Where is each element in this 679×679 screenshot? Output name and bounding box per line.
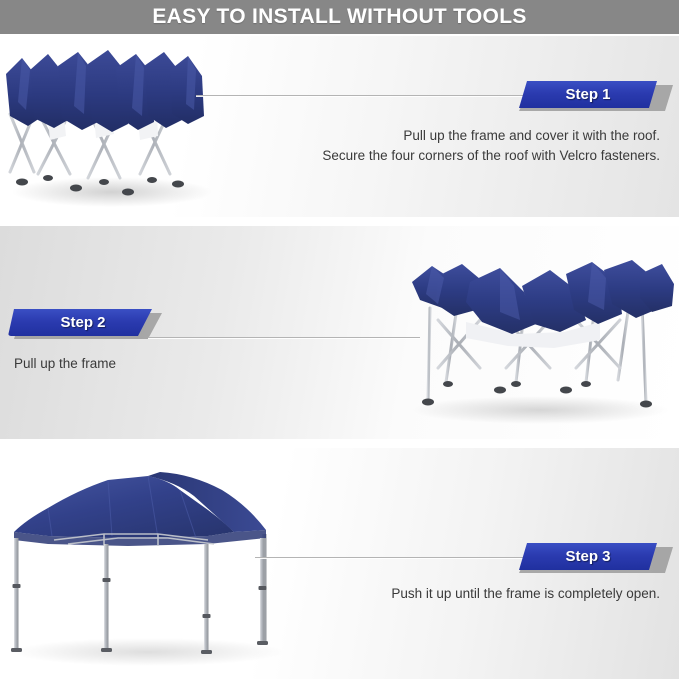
step-3-illustration	[8, 462, 298, 672]
step-1-connector-line	[196, 95, 528, 96]
canopy-leg-mid-right	[204, 544, 209, 654]
badge-body: Step 2	[8, 309, 158, 336]
step-1-description: Pull up the frame and cover it with the …	[250, 126, 660, 166]
canopy-leg-front-left	[14, 538, 19, 652]
step-3-section: Step 3 Push it up until the frame is com…	[0, 448, 679, 679]
step-3-description: Push it up until the frame is completely…	[250, 584, 660, 604]
step-1-section: Step 1 Pull up the frame and cover it wi…	[0, 36, 679, 217]
step-3-badge-label: Step 3	[565, 548, 610, 565]
instruction-poster: EASY TO INSTALL WITHOUT TOOLS	[0, 0, 679, 679]
ground-shadow	[13, 638, 283, 666]
step-3-badge[interactable]: Step 3	[513, 543, 673, 573]
step-2-connector-line	[148, 337, 420, 338]
step-2-badge[interactable]: Step 2	[8, 309, 168, 339]
step-2-badge-label: Step 2	[60, 314, 105, 331]
badge-body: Step 3	[513, 543, 663, 570]
step-3-connector-line	[255, 557, 528, 558]
canopy-roof-fabric	[412, 260, 674, 334]
leg-collars	[13, 578, 267, 618]
badge-body: Step 1	[513, 81, 663, 108]
canopy-roof-fabric	[6, 50, 204, 132]
step-2-section: Step 2 Pull up the frame	[0, 226, 679, 439]
step-2-description: Pull up the frame	[14, 354, 314, 374]
page-title: EASY TO INSTALL WITHOUT TOOLS	[152, 5, 526, 29]
step-1-illustration	[0, 40, 230, 210]
poster-header: EASY TO INSTALL WITHOUT TOOLS	[0, 0, 679, 34]
step-1-badge[interactable]: Step 1	[513, 81, 673, 111]
ground-shadow	[412, 396, 668, 424]
step-1-badge-label: Step 1	[565, 86, 610, 103]
canopy-leg-mid-left	[104, 544, 109, 652]
step-2-illustration	[404, 248, 676, 428]
